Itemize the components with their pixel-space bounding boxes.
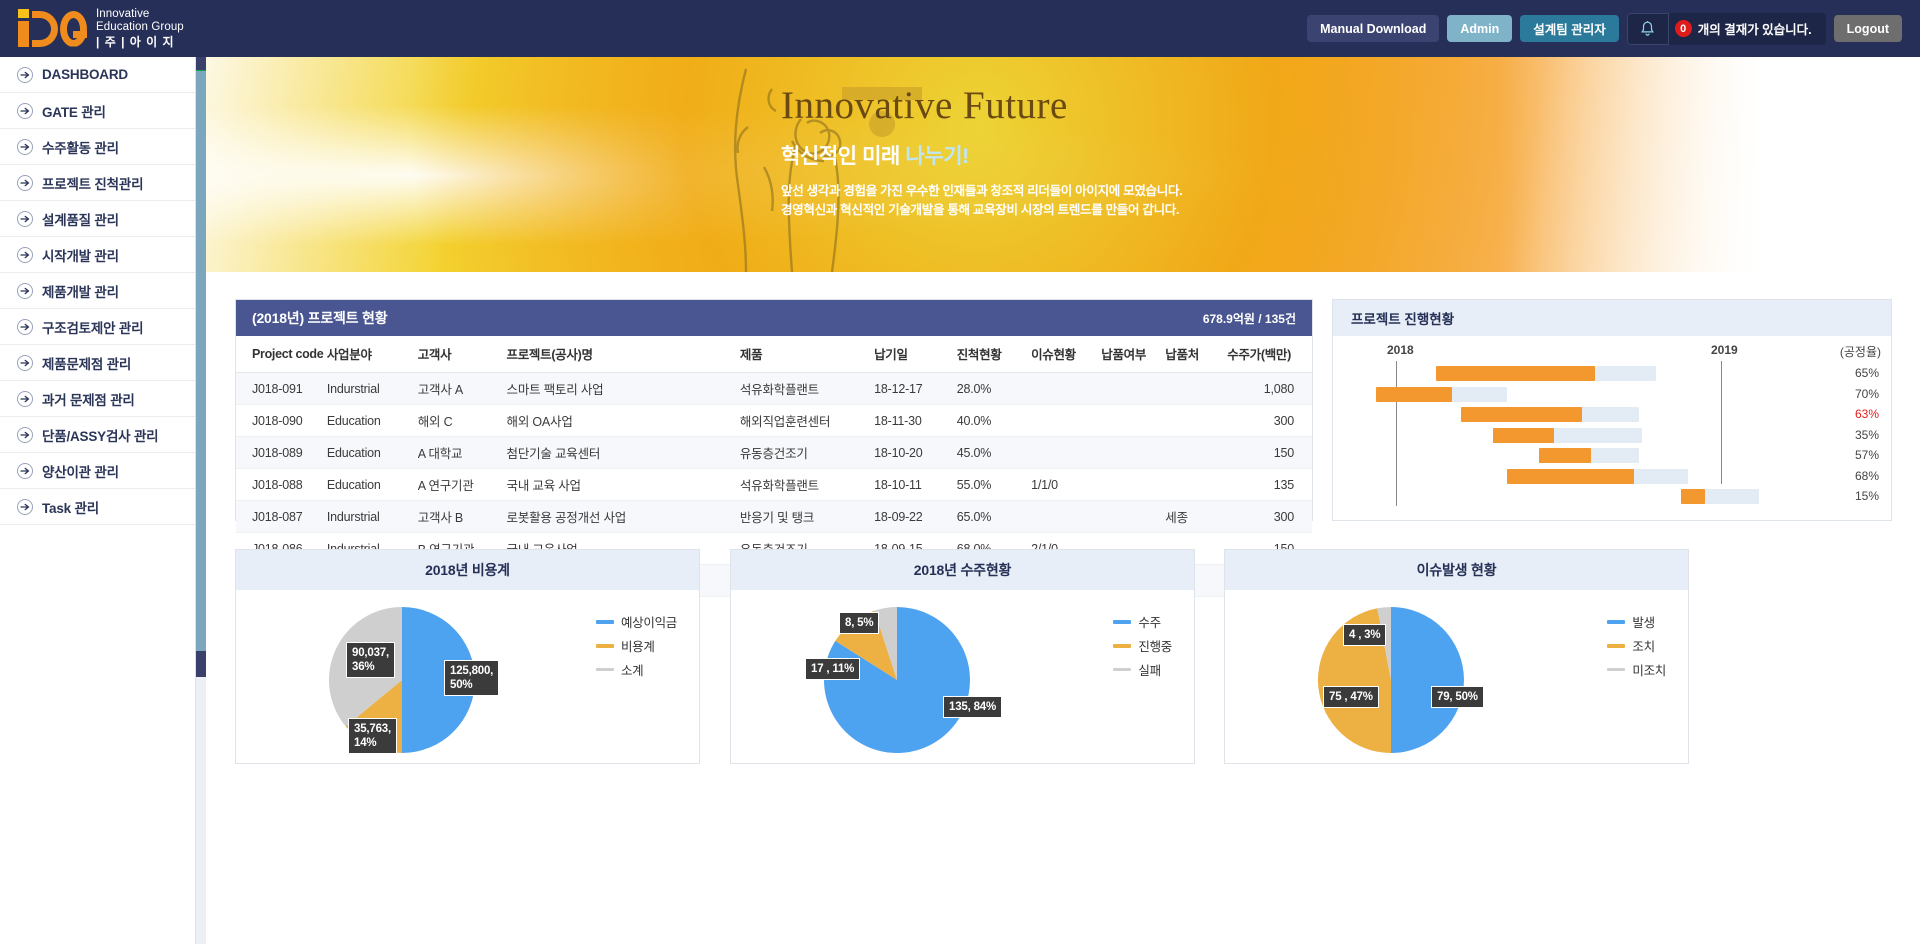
cell-product: 해외직업훈련센터	[740, 405, 874, 437]
notification-label: 개의 결재가 있습니다.	[1698, 19, 1812, 38]
cell-progress: 55.0%	[957, 469, 1031, 501]
cell-client: 해외 C	[418, 405, 507, 437]
cell-issue	[1031, 373, 1101, 405]
sidebar-item-label: GATE 관리	[42, 101, 106, 121]
col-amount[interactable]: 수주가(백만)	[1227, 336, 1312, 373]
sidebar-item-4[interactable]: 설계품질 관리	[0, 201, 195, 237]
pie-chart-svg	[1311, 600, 1483, 768]
sidebar-item-label: Task 관리	[42, 497, 99, 517]
cell-due: 18-12-17	[874, 373, 957, 405]
arrow-right-icon	[17, 427, 33, 443]
notification-count-badge: 0	[1675, 20, 1692, 37]
cell-product: 석유화학플랜트	[740, 373, 874, 405]
pie-panel-issues: 이슈발생 현황 발생 조치 미조치79, 50%75 , 47%4 , 3%	[1224, 549, 1689, 764]
pie-panel-cost: 2018년 비용계 예상이익금 비용계 소계125,800, 50%35,763…	[235, 549, 700, 764]
logo-letter-g	[60, 11, 87, 47]
sidebar-item-10[interactable]: 단품/ASSY검사 관리	[0, 417, 195, 453]
arrow-right-icon	[17, 355, 33, 371]
cell-due: 18-10-11	[874, 469, 957, 501]
legend-item-2[interactable]: 미조치	[1607, 660, 1666, 679]
pie-issues-title: 이슈발생 현황	[1417, 560, 1497, 580]
gantt-progress-percent: 15%	[1855, 489, 1879, 503]
gantt-bar-progress	[1461, 407, 1582, 422]
gantt-axis-pct-label: (공정율)	[1840, 343, 1881, 360]
sidebar-item-label: 양산이관 관리	[42, 461, 119, 481]
gantt-progress-percent: 65%	[1855, 366, 1879, 380]
gantt-axis-2018: 2018	[1387, 343, 1414, 357]
sidebar-item-12[interactable]: Task 관리	[0, 489, 195, 525]
cell-field: Education	[327, 437, 418, 469]
sidebar-item-0[interactable]: DASHBOARD	[0, 57, 195, 93]
sidebar-item-label: 수주활동 관리	[42, 137, 119, 157]
project-table-header-row: Project code 사업분야 고객사 프로젝트(공사)명 제품 납기일 진…	[236, 336, 1312, 373]
legend-label: 비용계	[621, 636, 655, 655]
cell-product: 반응기 및 탱크	[740, 501, 874, 533]
cell-due: 18-11-30	[874, 405, 957, 437]
col-delivered[interactable]: 납품여부	[1101, 336, 1165, 373]
sidebar-item-1[interactable]: GATE 관리	[0, 93, 195, 129]
cell-code: J018-090	[236, 405, 327, 437]
legend-swatch-icon	[1113, 644, 1131, 648]
gantt-bar-progress	[1436, 366, 1594, 381]
table-row[interactable]: J018-088EducationA 연구기관국내 교육 사업석유화학플랜트18…	[236, 469, 1312, 501]
arrow-right-icon	[17, 67, 33, 83]
logo[interactable]: Innovative Education Group | 주 | 아 이 지	[0, 8, 205, 49]
sidebar-item-label: 시작개발 관리	[42, 245, 119, 265]
legend-item-1[interactable]: 진행중	[1113, 636, 1172, 655]
legend-label: 예상이익금	[621, 612, 677, 631]
cell-place	[1165, 469, 1227, 501]
logout-button[interactable]: Logout	[1834, 15, 1902, 42]
legend-swatch-icon	[1607, 668, 1625, 671]
col-due-date[interactable]: 납기일	[874, 336, 957, 373]
gantt-panel-title: 프로젝트 진행현황	[1351, 308, 1454, 328]
pie-data-label-1: 35,763, 14%	[348, 718, 397, 754]
gantt-bar-progress	[1507, 469, 1634, 484]
cell-amount: 300	[1227, 501, 1312, 533]
gantt-axis-2019: 2019	[1711, 343, 1738, 357]
sidebar-item-8[interactable]: 제품문제점 관리	[0, 345, 195, 381]
pie-data-label-2: 8, 5%	[839, 612, 879, 634]
cell-place: 세종	[1165, 501, 1227, 533]
cell-code: J018-091	[236, 373, 327, 405]
logo-letter-d	[32, 11, 58, 47]
pie-panel-orders: 2018년 수주현황 수주 진행중 실패135, 84%17 , 11%8, 5…	[730, 549, 1195, 764]
cell-field: Indurstrial	[327, 501, 418, 533]
cell-progress: 28.0%	[957, 373, 1031, 405]
pie-orders-header: 2018년 수주현황	[731, 550, 1194, 590]
legend-swatch-icon	[596, 644, 614, 648]
pie-data-label-1: 17 , 11%	[805, 658, 860, 680]
idg-logo-mark	[18, 11, 87, 47]
bell-icon[interactable]	[1627, 13, 1669, 45]
col-client[interactable]: 고객사	[418, 336, 507, 373]
col-issue[interactable]: 이슈현황	[1031, 336, 1101, 373]
pie-data-label-2: 90,037, 36%	[346, 642, 395, 678]
col-place[interactable]: 납품처	[1165, 336, 1227, 373]
legend-label: 소계	[621, 660, 643, 679]
gantt-progress-percent: 68%	[1855, 469, 1879, 483]
cell-issue	[1031, 437, 1101, 469]
cell-issue: 1/1/0	[1031, 469, 1101, 501]
sidebar-item-3[interactable]: 프로젝트 진척관리	[0, 165, 195, 201]
pie-data-label-0: 125,800, 50%	[444, 660, 499, 696]
banner-subtitle-accent: 나누기!	[905, 145, 968, 168]
pie-data-label-0: 79, 50%	[1431, 686, 1484, 708]
project-status-panel: (2018년) 프로젝트 현황 678.9억원 / 135건 Project c…	[235, 299, 1313, 521]
hero-banner: Innovative Future 혁신적인 미래 나누기! 앞선 생각과 경험…	[206, 57, 1920, 272]
cell-delivered	[1101, 469, 1165, 501]
sidebar-item-label: 프로젝트 진척관리	[42, 173, 143, 193]
cell-field: Education	[327, 469, 418, 501]
arrow-right-icon	[17, 139, 33, 155]
cell-issue	[1031, 405, 1101, 437]
banner-subtitle-main: 혁신적인 미래	[781, 145, 905, 168]
manual-download-button[interactable]: Manual Download	[1307, 15, 1439, 42]
legend-label: 조치	[1632, 636, 1654, 655]
sidebar-nav: DASHBOARDGATE 관리수주활동 관리프로젝트 진척관리설계품질 관리시…	[0, 57, 196, 944]
cell-progress: 45.0%	[957, 437, 1031, 469]
gantt-gridline-2018	[1396, 361, 1397, 506]
cell-field: Indurstrial	[327, 373, 418, 405]
cell-amount: 1,080	[1227, 373, 1312, 405]
sidebar-item-label: 설계품질 관리	[42, 209, 119, 229]
arrow-right-icon	[17, 283, 33, 299]
sidebar-item-7[interactable]: 구조검토제안 관리	[0, 309, 195, 345]
sidebar-item-5[interactable]: 시작개발 관리	[0, 237, 195, 273]
admin-button[interactable]: Admin	[1447, 15, 1512, 42]
sidebar-item-label: 단품/ASSY검사 관리	[42, 425, 158, 445]
cell-progress: 40.0%	[957, 405, 1031, 437]
cell-client: 고객사 A	[418, 373, 507, 405]
cell-amount: 150	[1227, 437, 1312, 469]
cell-product: 석유화학플랜트	[740, 469, 874, 501]
arrow-right-icon	[17, 391, 33, 407]
gantt-bar-progress	[1493, 428, 1554, 443]
cell-product: 유동층건조기	[740, 437, 874, 469]
project-panel-summary: 678.9억원 / 135건	[1203, 310, 1296, 327]
cell-progress: 65.0%	[957, 501, 1031, 533]
arrow-right-icon	[17, 463, 33, 479]
banner-desc-line-1: 앞선 생각과 경험을 가진 우수한 인재들과 창조적 리더들이 아이지에 모였습…	[781, 182, 1581, 201]
top-bar-actions: Manual Download Admin 설계팀 관리자 0 개의 결재가 있…	[1307, 13, 1920, 45]
col-project-name[interactable]: 프로젝트(공사)명	[507, 336, 740, 373]
pie-data-label-1: 75 , 47%	[1323, 686, 1379, 708]
cell-place	[1165, 373, 1227, 405]
col-progress[interactable]: 진척현황	[957, 336, 1031, 373]
project-panel-header: (2018년) 프로젝트 현황 678.9억원 / 135건	[236, 300, 1312, 336]
pie-slice-0	[1391, 607, 1464, 753]
legend-label: 미조치	[1632, 660, 1666, 679]
arrow-right-icon	[17, 247, 33, 263]
arrow-right-icon	[17, 499, 33, 515]
logo-letter-i	[18, 21, 29, 47]
legend-swatch-icon	[1607, 644, 1625, 648]
pie-cost-title: 2018년 비용계	[425, 560, 510, 580]
table-row[interactable]: J018-091Indurstrial고객사 A스마트 팩토리 사업석유화학플랜…	[236, 373, 1312, 405]
logo-line-3: | 주 | 아 이 지	[96, 35, 184, 49]
top-bar: Innovative Education Group | 주 | 아 이 지 M…	[0, 0, 1920, 57]
cell-issue	[1031, 501, 1101, 533]
col-project-code[interactable]: Project code	[236, 336, 327, 373]
cell-code: J018-088	[236, 469, 327, 501]
pie-data-label-2: 4 , 3%	[1343, 624, 1386, 646]
logo-text: Innovative Education Group | 주 | 아 이 지	[96, 8, 184, 49]
sidebar-item-label: DASHBOARD	[42, 67, 128, 82]
cell-project: 해외 OA사업	[507, 405, 740, 437]
gantt-bar-progress	[1539, 448, 1591, 463]
legend-label: 발생	[1632, 612, 1654, 631]
legend-item-1[interactable]: 조치	[1607, 636, 1666, 655]
legend-label: 진행중	[1138, 636, 1172, 655]
col-field[interactable]: 사업분야	[327, 336, 418, 373]
gantt-progress-percent: 57%	[1855, 448, 1879, 462]
pie-issues-body: 발생 조치 미조치79, 50%75 , 47%4 , 3%	[1225, 590, 1688, 764]
cell-client: A 대학교	[418, 437, 507, 469]
gantt-bar-progress	[1376, 387, 1452, 402]
pie-issues-header: 이슈발생 현황	[1225, 550, 1688, 590]
legend-label: 수주	[1138, 612, 1160, 631]
sidebar-scrollbar-cap-bottom[interactable]	[196, 651, 206, 677]
sidebar-scrollbar-cap-top[interactable]	[196, 57, 206, 71]
sidebar-item-2[interactable]: 수주활동 관리	[0, 129, 195, 165]
gantt-chart: 2018 2019 (공정율) 65%70%63%35%57%68%15%	[1333, 336, 1891, 520]
cell-amount: 135	[1227, 469, 1312, 501]
banner-title: Innovative Future	[781, 83, 1581, 128]
project-panel-title: (2018년) 프로젝트 현황	[252, 308, 387, 328]
legend-swatch-icon	[1113, 668, 1131, 671]
legend-item-0[interactable]: 발생	[1607, 612, 1666, 631]
legend-item-0[interactable]: 예상이익금	[596, 612, 677, 631]
cell-delivered	[1101, 405, 1165, 437]
table-row[interactable]: J018-089EducationA 대학교첨단기술 교육센터유동층건조기18-…	[236, 437, 1312, 469]
arrow-right-icon	[17, 175, 33, 191]
cell-place	[1165, 437, 1227, 469]
sidebar-item-9[interactable]: 과거 문제점 관리	[0, 381, 195, 417]
gantt-progress-percent: 63%	[1855, 407, 1879, 421]
cell-code: J018-087	[236, 501, 327, 533]
arrow-right-icon	[17, 103, 33, 119]
banner-text-block: Innovative Future 혁신적인 미래 나누기! 앞선 생각과 경험…	[781, 83, 1581, 221]
gantt-panel: 프로젝트 진행현황 2018 2019 (공정율) 65%70%63%35%57…	[1332, 299, 1892, 521]
pie-data-label-0: 135, 84%	[943, 696, 1002, 718]
logo-line-2: Education Group	[96, 21, 184, 35]
arrow-right-icon	[17, 319, 33, 335]
cell-project: 스마트 팩토리 사업	[507, 373, 740, 405]
cell-due: 18-09-22	[874, 501, 957, 533]
pie-orders-body: 수주 진행중 실패135, 84%17 , 11%8, 5%	[731, 590, 1194, 764]
sidebar-scrollbar-thumb[interactable]	[196, 71, 206, 651]
cell-delivered	[1101, 437, 1165, 469]
arrow-right-icon	[17, 211, 33, 227]
pie-cost-header: 2018년 비용계	[236, 550, 699, 590]
cell-client: A 연구기관	[418, 469, 507, 501]
main-content: (2018년) 프로젝트 현황 678.9억원 / 135건 Project c…	[206, 272, 1920, 944]
project-table-head: Project code 사업분야 고객사 프로젝트(공사)명 제품 납기일 진…	[236, 336, 1312, 373]
table-row[interactable]: J018-087Indurstrial고객사 B로봇활용 공정개선 사업반응기 …	[236, 501, 1312, 533]
legend-swatch-icon	[1607, 620, 1625, 624]
sidebar-item-11[interactable]: 양산이관 관리	[0, 453, 195, 489]
sidebar-item-label: 제품개발 관리	[42, 281, 119, 301]
legend-item-2[interactable]: 소계	[596, 660, 677, 679]
legend-item-1[interactable]: 비용계	[596, 636, 677, 655]
logo-line-1: Innovative	[96, 8, 184, 22]
pie-legend: 발생 조치 미조치	[1607, 612, 1666, 684]
cell-due: 18-10-20	[874, 437, 957, 469]
cell-field: Education	[327, 405, 418, 437]
sidebar-item-label: 구조검토제안 관리	[42, 317, 143, 337]
team-manager-button[interactable]: 설계팀 관리자	[1520, 15, 1618, 42]
cell-amount: 300	[1227, 405, 1312, 437]
banner-desc-line-2: 경영혁신과 혁신적인 기술개발을 통해 교육장비 시장의 트렌드를 만들어 갑니…	[781, 201, 1581, 220]
sidebar-item-6[interactable]: 제품개발 관리	[0, 273, 195, 309]
notification-text-wrap: 0 개의 결재가 있습니다.	[1669, 19, 1826, 38]
cell-project: 로봇활용 공정개선 사업	[507, 501, 740, 533]
gantt-progress-percent: 35%	[1855, 428, 1879, 442]
table-row[interactable]: J018-090Education해외 C해외 OA사업해외직업훈련센터18-1…	[236, 405, 1312, 437]
cell-project: 첨단기술 교육센터	[507, 437, 740, 469]
pie-orders-title: 2018년 수주현황	[914, 560, 1011, 580]
sidebar-item-label: 제품문제점 관리	[42, 353, 131, 373]
legend-swatch-icon	[596, 620, 614, 624]
legend-label: 실패	[1138, 660, 1160, 679]
sidebar-item-label: 과거 문제점 관리	[42, 389, 135, 409]
cell-project: 국내 교육 사업	[507, 469, 740, 501]
notification-bar[interactable]: 0 개의 결재가 있습니다.	[1627, 13, 1826, 45]
gantt-gridline-2019	[1721, 361, 1722, 484]
cell-client: 고객사 B	[418, 501, 507, 533]
gantt-panel-header: 프로젝트 진행현황	[1333, 300, 1891, 336]
cell-delivered	[1101, 373, 1165, 405]
banner-subtitle: 혁신적인 미래 나누기!	[781, 140, 1581, 170]
pie-legend: 수주 진행중 실패	[1113, 612, 1172, 684]
col-product[interactable]: 제품	[740, 336, 874, 373]
gantt-bar-progress	[1681, 489, 1704, 504]
cell-place	[1165, 405, 1227, 437]
cell-delivered	[1101, 501, 1165, 533]
legend-item-2[interactable]: 실패	[1113, 660, 1172, 679]
pie-legend: 예상이익금 비용계 소계	[596, 612, 677, 684]
legend-swatch-icon	[596, 668, 614, 671]
legend-swatch-icon	[1113, 620, 1131, 624]
banner-description: 앞선 생각과 경험을 가진 우수한 인재들과 창조적 리더들이 아이지에 모였습…	[781, 182, 1581, 221]
pie-cost-body: 예상이익금 비용계 소계125,800, 50%35,763, 14%90,03…	[236, 590, 699, 764]
legend-item-0[interactable]: 수주	[1113, 612, 1172, 631]
gantt-progress-percent: 70%	[1855, 387, 1879, 401]
cell-code: J018-089	[236, 437, 327, 469]
